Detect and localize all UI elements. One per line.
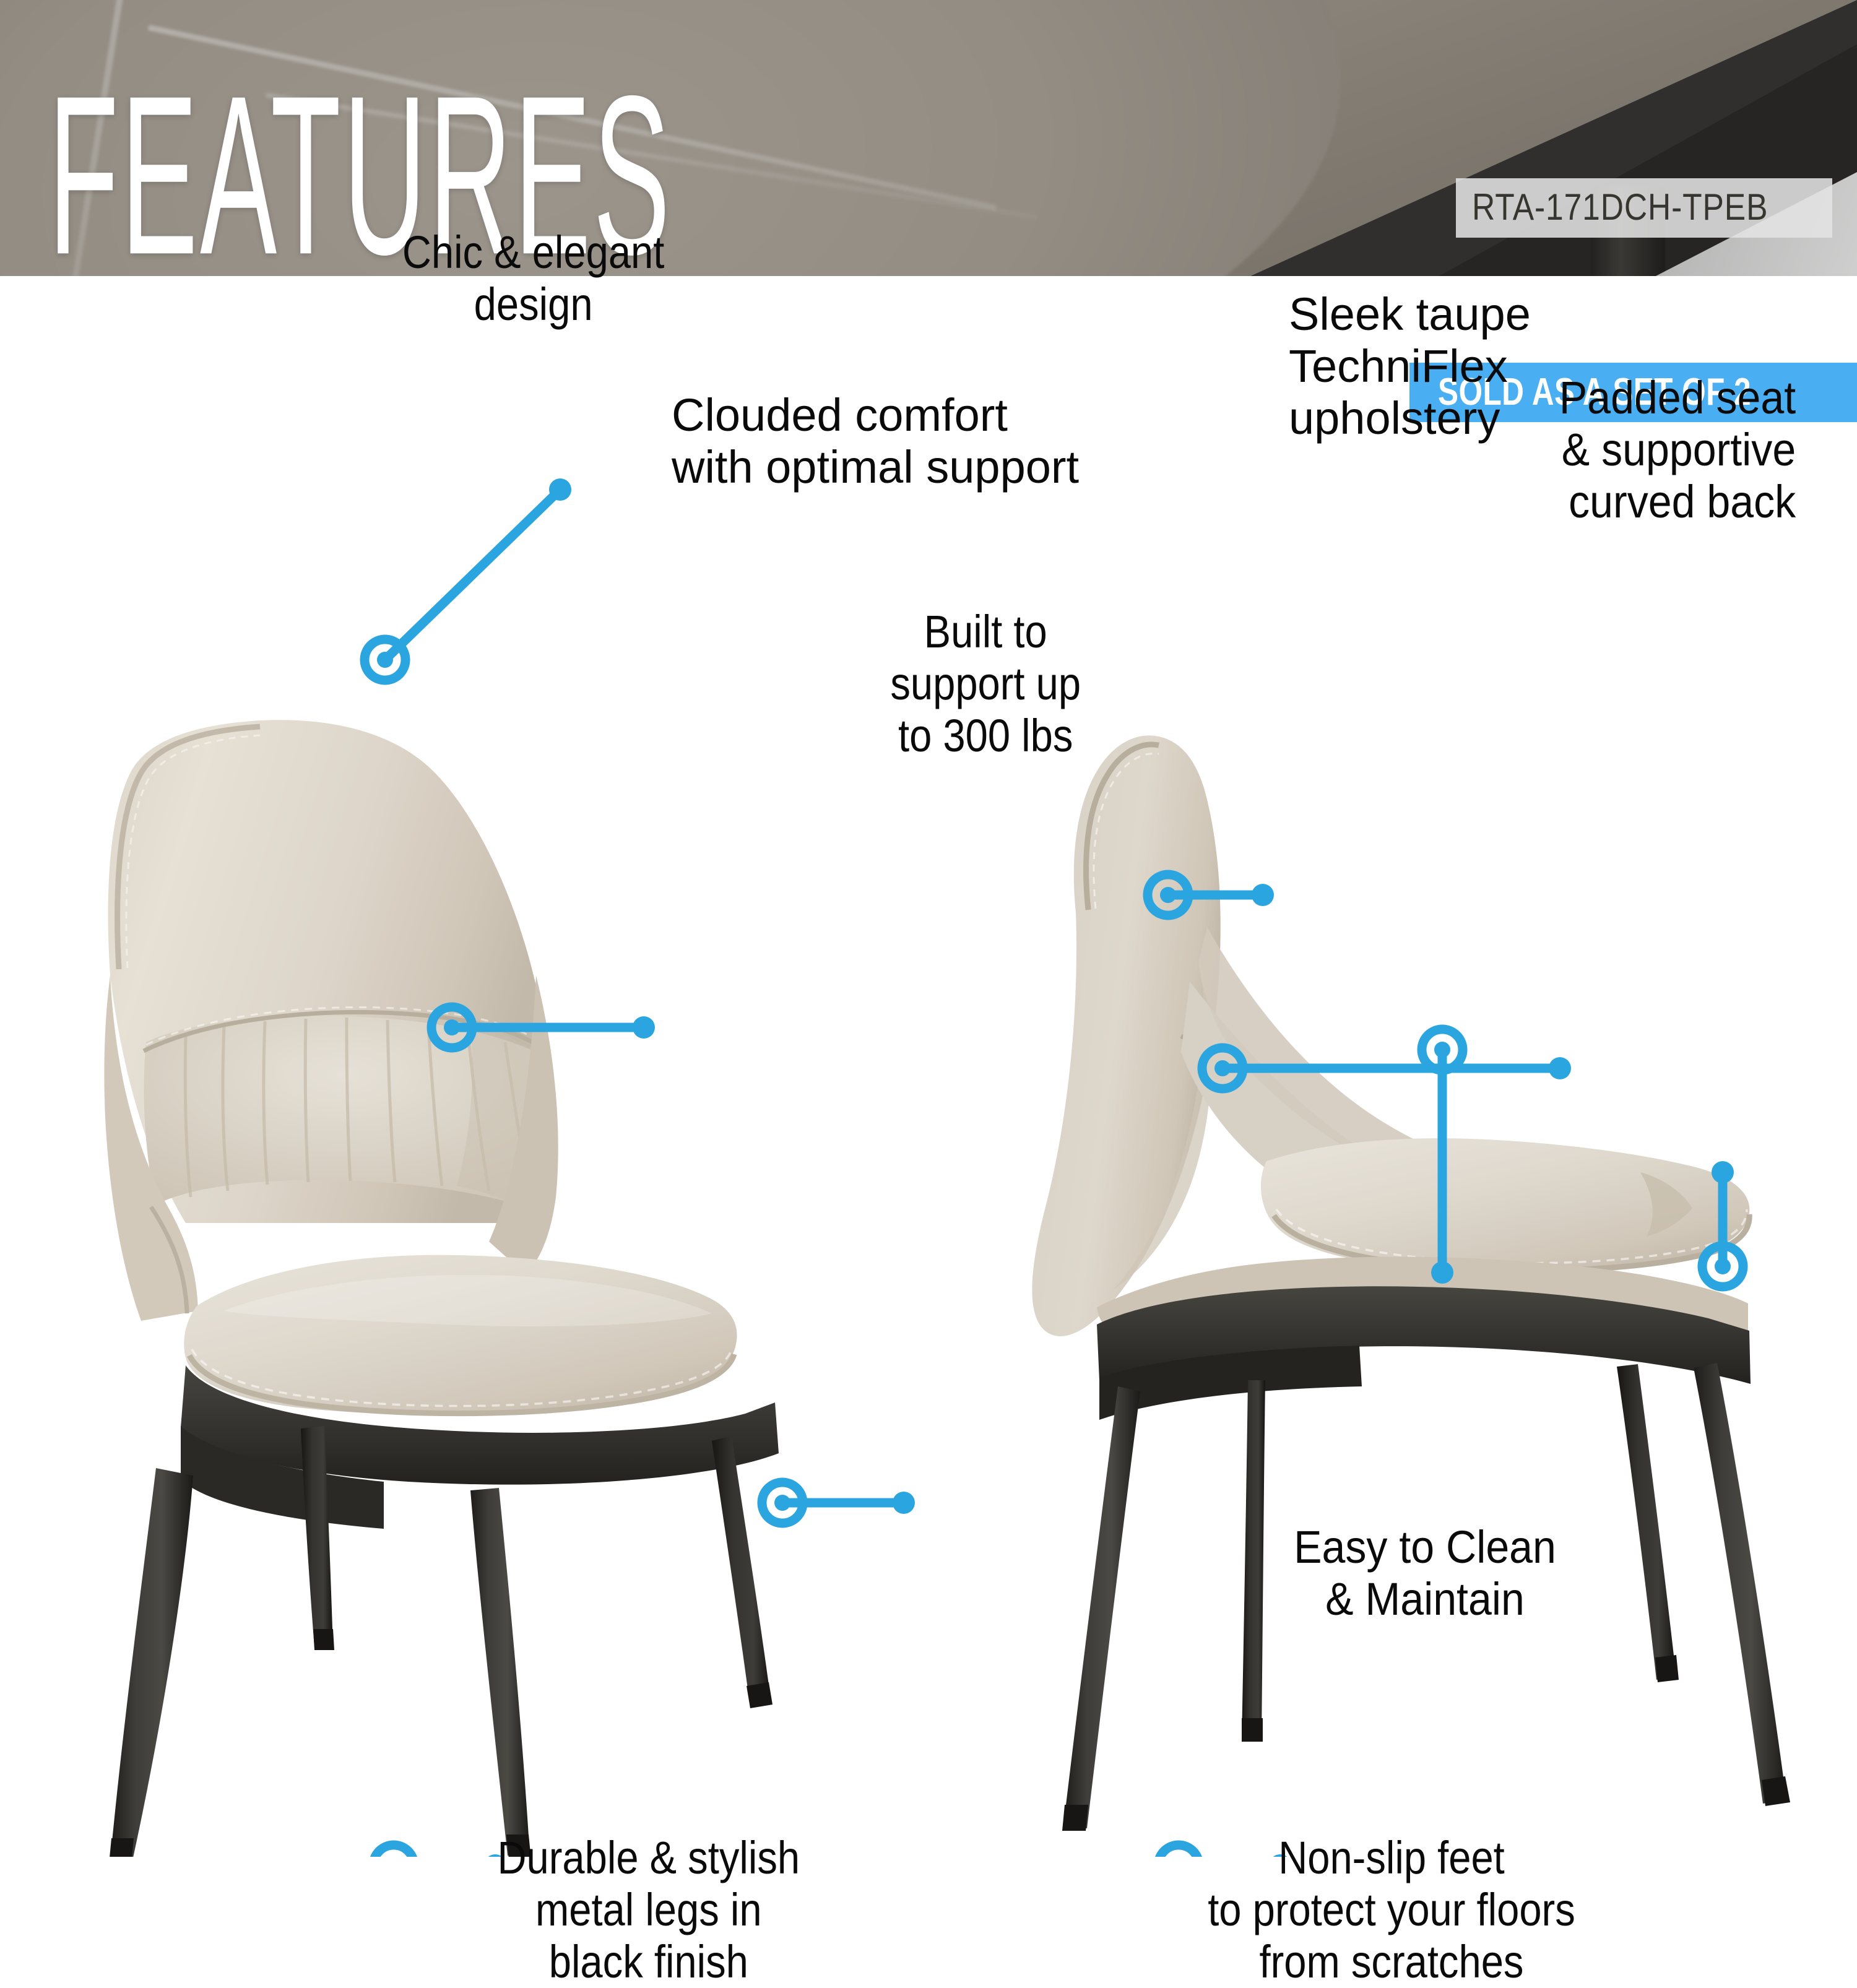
callout-line-built [762, 1482, 915, 1523]
callout-label-easy: Easy to Clean & Maintain [1226, 1521, 1624, 1625]
callout-label-clouded: Clouded comfort with optimal support [672, 389, 1142, 493]
chair-front-leg-back-right [712, 1436, 771, 1707]
chair-front-leg-front-left [110, 1468, 193, 1857]
sku-badge: RTA-171DCH-TPEB [1456, 178, 1832, 238]
chair-front-foot-back-right [747, 1682, 773, 1708]
sku-text: RTA-171DCH-TPEB [1472, 188, 1768, 227]
chair-front-foot-back-left [313, 1629, 334, 1650]
callout-label-nonslip: Non-slip feet to protect your floors fro… [1201, 1832, 1582, 1988]
callout-label-built: Built to support up to 300 lbs [868, 606, 1102, 762]
chair-side-foot-front-left [1062, 1805, 1088, 1831]
callout-label-padded: Padded seat & supportive curved back [1363, 372, 1796, 528]
dining-chair-front-view [104, 720, 779, 1857]
chair-front-leg-front-right [470, 1488, 530, 1856]
chair-side-leg-front-right [1617, 1364, 1676, 1680]
chair-side-foot-back-right [1762, 1776, 1790, 1806]
chair-side-leg-back-right [1694, 1363, 1786, 1804]
chair-side-leg-front-left [1063, 1386, 1140, 1828]
callout-label-durable: Durable & stylish metal legs in black fi… [480, 1832, 818, 1988]
chair-front-foot-front-left [109, 1838, 134, 1857]
chair-side-foot-back-left [1242, 1718, 1263, 1742]
callout-label-chic: Chic & elegant design [359, 227, 708, 331]
header-banner: FEATURES RTA-171DCH-TPEB [0, 0, 1857, 276]
chair-side-foot-front-right [1655, 1655, 1679, 1682]
callout-line-chic [365, 478, 571, 680]
product-illustration-stage: Chic & elegant design Clouded comfort wi… [0, 276, 1857, 1857]
